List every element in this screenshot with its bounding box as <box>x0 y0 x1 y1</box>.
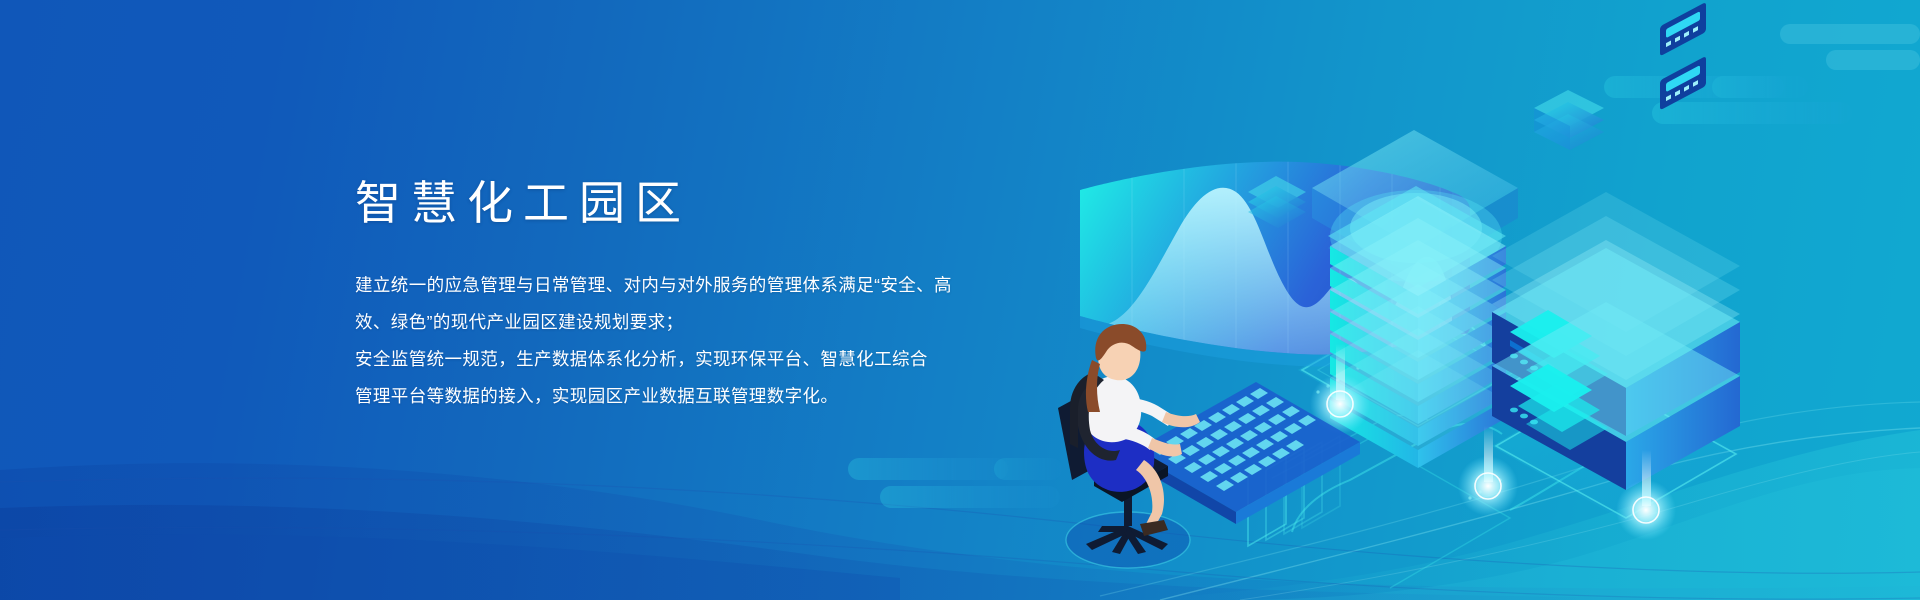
floating-cube-right <box>1534 90 1604 150</box>
description-line-3: 安全监管统一规范，生产数据体系化分析，实现环保平台、智慧化工综合 <box>355 341 1075 378</box>
hero-description: 建立统一的应急管理与日常管理、对内与对外服务的管理体系满足“安全、高 效、绿色”… <box>355 267 1075 415</box>
hero-banner: 智慧化工园区 建立统一的应急管理与日常管理、对内与对外服务的管理体系满足“安全、… <box>0 0 1920 600</box>
description-line-1: 建立统一的应急管理与日常管理、对内与对外服务的管理体系满足“安全、高 <box>355 267 1075 304</box>
rack-indicator-upper <box>1660 2 1706 56</box>
wave-bottom-left-3 <box>0 534 900 600</box>
cloud-motif-mid-left <box>848 458 1062 508</box>
description-line-2: 效、绿色”的现代产业园区建设规划要求； <box>355 304 1075 341</box>
seated-woman-group <box>1058 324 1200 568</box>
page-title: 智慧化工园区 <box>355 178 1075 229</box>
illustration-svg <box>1040 40 1820 580</box>
rack-indicator-lower <box>1660 56 1706 110</box>
hero-text-block: 智慧化工园区 建立统一的应急管理与日常管理、对内与对外服务的管理体系满足“安全、… <box>355 178 1075 415</box>
description-line-4: 管理平台等数据的接入，实现园区产业数据互联管理数字化。 <box>355 378 1075 415</box>
data-rack <box>1492 2 1740 490</box>
isometric-illustration <box>1040 40 1820 580</box>
